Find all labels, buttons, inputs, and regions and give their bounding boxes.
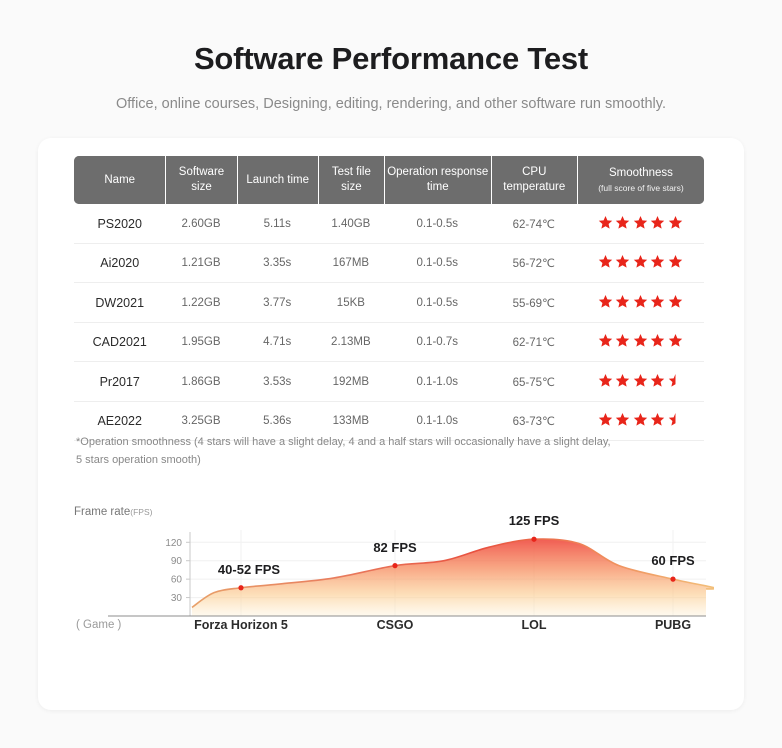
table-header: Name Software size Launch time Test file… (74, 156, 704, 204)
footnote-line-2: 5 stars operation smooth) (76, 452, 716, 470)
cell-software-size: 1.21GB (165, 244, 236, 284)
star-icon (633, 333, 648, 348)
chart-point-label: 60 FPS (651, 553, 694, 568)
chart-data-point (392, 563, 397, 568)
page-header: Software Performance Test Office, online… (0, 0, 782, 112)
cell-smoothness (577, 204, 704, 244)
star-icon (668, 294, 683, 309)
star-icon (650, 294, 665, 309)
star-icon (615, 215, 630, 230)
cell-response-time: 0.1-0.5s (384, 283, 491, 323)
column-header-label: Software size (179, 166, 224, 193)
chart-category-label: LOL (522, 618, 547, 632)
column-header-label: Name (104, 174, 135, 186)
chart-y-axis-label: Frame rate(FPS) (74, 506, 152, 518)
star-rating (598, 373, 683, 388)
cell-response-time: 0.1-0.7s (384, 323, 491, 363)
cell-software-size: 2.60GB (165, 204, 236, 244)
table-body: PS20202.60GB5.11s1.40GB0.1-0.5s62-74℃Ai2… (74, 204, 704, 441)
table-row: PS20202.60GB5.11s1.40GB0.1-0.5s62-74℃ (74, 204, 704, 244)
frame-rate-chart: Frame rate(FPS) 306090120 (74, 506, 714, 641)
table-header-row: Name Software size Launch time Test file… (74, 156, 704, 204)
cell-smoothness (577, 283, 704, 323)
y-tick-label: 60 (171, 575, 183, 586)
star-icon (615, 412, 630, 427)
chart-point-label: 40-52 FPS (218, 562, 280, 577)
page-subtitle: Office, online courses, Designing, editi… (0, 96, 782, 112)
star-icon (633, 254, 648, 269)
cell-launch-time: 5.11s (237, 204, 318, 244)
star-icon (615, 373, 630, 388)
star-icon (633, 215, 648, 230)
cell-cpu-temperature: 56-72℃ (491, 244, 577, 284)
cell-name: PS2020 (74, 204, 165, 244)
star-icon (668, 333, 683, 348)
smoothness-footnote: *Operation smoothness (4 stars will have… (76, 434, 716, 470)
cell-test-file-size: 1.40GB (318, 204, 384, 244)
cell-software-size: 1.95GB (165, 323, 236, 363)
star-icon (615, 254, 630, 269)
table-row: Ai20201.21GB3.35s167MB0.1-0.5s56-72℃ (74, 244, 704, 284)
cell-name: CAD2021 (74, 323, 165, 363)
cell-cpu-temperature: 62-74℃ (491, 204, 577, 244)
star-icon (598, 333, 613, 348)
chart-x-axis: ( Game ) Forza Horizon 5CSGOLOLPUBG (74, 616, 714, 638)
chart-point-label: 82 FPS (373, 540, 416, 555)
column-header-label: CPU temperature (503, 166, 565, 193)
chart-x-axis-label: ( Game ) (76, 619, 121, 631)
cell-smoothness (577, 244, 704, 284)
star-icon (598, 412, 613, 427)
cell-cpu-temperature: 62-71℃ (491, 323, 577, 363)
performance-card: Name Software size Launch time Test file… (38, 138, 744, 710)
cell-response-time: 0.1-0.5s (384, 244, 491, 284)
chart-data-point (531, 537, 536, 542)
column-header-test-file-size: Test file size (318, 156, 384, 204)
cell-launch-time: 3.35s (237, 244, 318, 284)
column-header-label: Launch time (246, 174, 309, 186)
table-row: Pr20171.86GB3.53s192MB0.1-1.0s65-75℃ (74, 362, 704, 402)
star-icon (633, 373, 648, 388)
cell-name: DW2021 (74, 283, 165, 323)
page-title: Software Performance Test (0, 40, 782, 79)
star-icon (650, 412, 665, 427)
star-rating (598, 215, 683, 230)
chart-data-point (238, 585, 243, 590)
cell-name: Ai2020 (74, 244, 165, 284)
footnote-line-1: *Operation smoothness (4 stars will have… (76, 434, 716, 452)
cell-test-file-size: 2.13MB (318, 323, 384, 363)
chart-category-label: Forza Horizon 5 (194, 618, 288, 632)
column-header-label: Test file size (332, 166, 371, 193)
star-icon (615, 294, 630, 309)
star-icon (668, 254, 683, 269)
y-tick-label: 120 (165, 538, 182, 549)
y-tick-label: 90 (171, 556, 183, 567)
cell-test-file-size: 167MB (318, 244, 384, 284)
table-row: CAD20211.95GB4.71s2.13MB0.1-0.7s62-71℃ (74, 323, 704, 363)
star-icon (615, 333, 630, 348)
cell-cpu-temperature: 65-75℃ (491, 362, 577, 402)
star-icon (598, 215, 613, 230)
chart-category-label: PUBG (655, 618, 691, 632)
y-tick-label: 30 (171, 593, 183, 604)
column-header-sublabel: (full score of five stars) (580, 183, 702, 194)
cell-launch-time: 3.53s (237, 362, 318, 402)
star-icon (633, 412, 648, 427)
chart-data-point (670, 577, 675, 582)
star-icon (633, 294, 648, 309)
star-icon (650, 215, 665, 230)
star-icon (650, 373, 665, 388)
chart-point-label: 125 FPS (509, 513, 560, 528)
cell-test-file-size: 15KB (318, 283, 384, 323)
cell-smoothness (577, 362, 704, 402)
chart-y-ticks: 306090120 (165, 538, 190, 604)
column-header-cpu-temperature: CPU temperature (491, 156, 577, 204)
star-icon (598, 294, 613, 309)
cell-test-file-size: 192MB (318, 362, 384, 402)
half-star-icon (668, 412, 683, 427)
cell-response-time: 0.1-0.5s (384, 204, 491, 244)
cell-response-time: 0.1-1.0s (384, 362, 491, 402)
cell-smoothness (577, 323, 704, 363)
star-rating (598, 412, 683, 427)
chart-area-fill (192, 539, 714, 616)
column-header-smoothness: Smoothness (full score of five stars) (577, 156, 704, 204)
chart-y-axis-title: Frame rate (74, 506, 130, 518)
star-icon (598, 373, 613, 388)
column-header-label: Operation response time (387, 166, 488, 193)
star-rating (598, 254, 683, 269)
cell-software-size: 1.86GB (165, 362, 236, 402)
performance-table: Name Software size Launch time Test file… (74, 156, 704, 441)
star-icon (650, 254, 665, 269)
cell-software-size: 1.22GB (165, 283, 236, 323)
star-rating (598, 333, 683, 348)
chart-category-label: CSGO (377, 618, 414, 632)
cell-cpu-temperature: 55-69℃ (491, 283, 577, 323)
half-star-icon (668, 373, 683, 388)
cell-launch-time: 3.77s (237, 283, 318, 323)
column-header-response-time: Operation response time (384, 156, 491, 204)
column-header-label: Smoothness (609, 167, 673, 179)
column-header-name: Name (74, 156, 165, 204)
star-icon (650, 333, 665, 348)
cell-name: Pr2017 (74, 362, 165, 402)
star-icon (598, 254, 613, 269)
star-rating (598, 294, 683, 309)
cell-launch-time: 4.71s (237, 323, 318, 363)
column-header-launch-time: Launch time (237, 156, 318, 204)
column-header-software-size: Software size (165, 156, 236, 204)
table-row: DW20211.22GB3.77s15KB0.1-0.5s55-69℃ (74, 283, 704, 323)
chart-y-axis-unit: (FPS) (130, 507, 152, 517)
star-icon (668, 215, 683, 230)
